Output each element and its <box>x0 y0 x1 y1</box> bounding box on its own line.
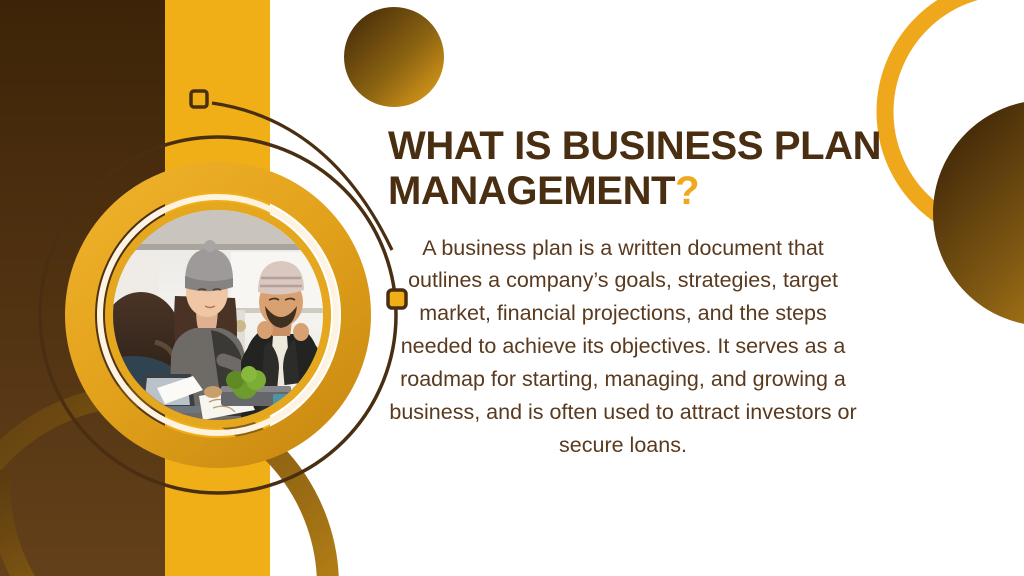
gradient-circle-right <box>933 100 1024 326</box>
page-title: WHAT IS BUSINESS PLANMANAGEMENT? <box>388 124 888 214</box>
gradient-circle-top <box>344 7 444 107</box>
title-line-2: MANAGEMENT <box>388 169 675 213</box>
title-question-mark: ? <box>675 169 699 213</box>
photo-frame <box>113 210 323 420</box>
slide-canvas: WHAT IS BUSINESS PLANMANAGEMENT? A busin… <box>0 0 1024 576</box>
title-line-1: WHAT IS BUSINESS PLAN <box>388 124 881 168</box>
body-paragraph: A business plan is a written document th… <box>388 214 858 462</box>
meeting-photo <box>113 210 323 420</box>
text-column: WHAT IS BUSINESS PLANMANAGEMENT? A busin… <box>388 124 888 462</box>
